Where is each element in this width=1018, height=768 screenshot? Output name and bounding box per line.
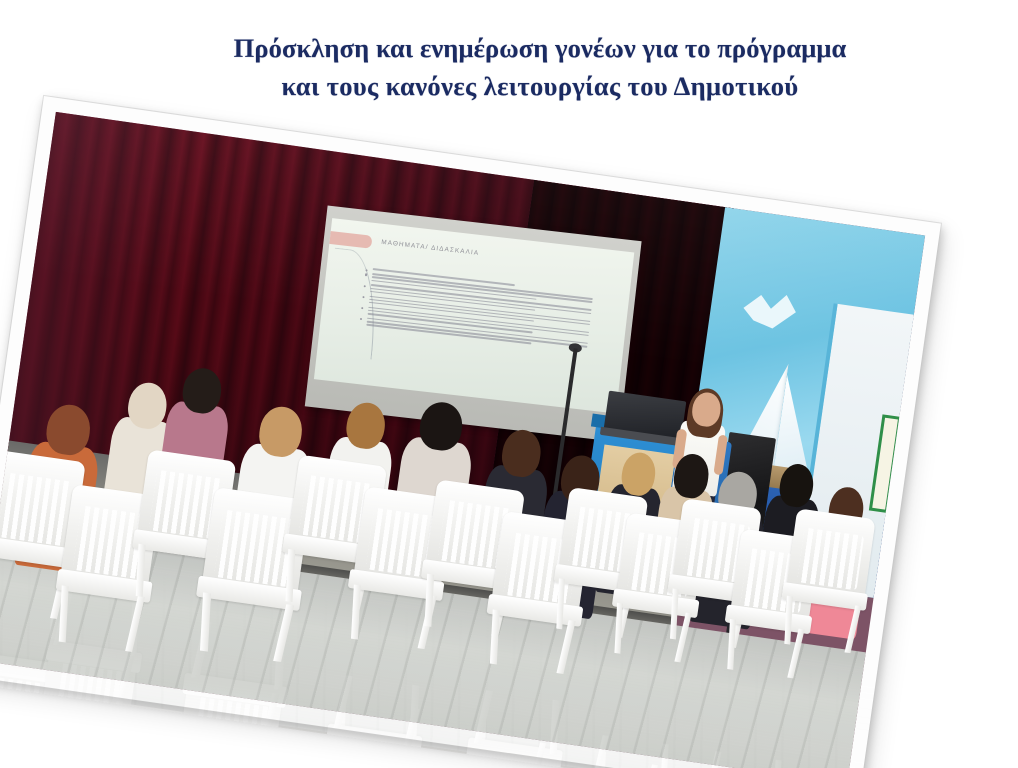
chair-back: [100, 715, 199, 768]
page-title: Πρόσκληση και ενημέρωση γονέων για το πρ…: [160, 30, 920, 105]
projected-slide-bullets: [360, 268, 603, 355]
photo-scene: ΜΑΘΗΜΑΤΑ/ ΔΙΔΑΣΚΑΛΙΑ: [0, 112, 925, 768]
presentation-slide: Πρόσκληση και ενημέρωση γονέων για το πρ…: [0, 0, 1018, 768]
title-line-2: και τους κανόνες λειτουργίας του Δημοτικ…: [160, 68, 920, 106]
projection-screen-surface: ΜΑΘΗΜΑΤΑ/ ΔΙΔΑΣΚΑΛΙΑ: [314, 218, 635, 413]
chair-legl: [728, 619, 737, 670]
dove-mural-icon: [741, 284, 799, 335]
reflection-curtain: [0, 759, 642, 768]
chair-legl: [615, 603, 624, 654]
chair-back: [318, 737, 418, 768]
chair-back: [245, 752, 344, 768]
chair-legl: [556, 578, 565, 629]
chair-legr: [845, 605, 862, 653]
title-line-1: Πρόσκληση και ενημέρωση γονέων για το πρ…: [160, 30, 920, 68]
chair-legl: [200, 592, 211, 651]
chair-legl: [351, 584, 361, 639]
chair-seat: [253, 739, 350, 768]
chair-seat: [393, 753, 490, 768]
photo-frame: ΜΑΘΗΜΑΤΑ/ ΔΙΔΑΣΚΑΛΙΑ: [0, 96, 941, 768]
chair-legl: [424, 574, 434, 627]
photo-container: ΜΑΘΗΜΑΤΑ/ ΔΙΔΑΣΚΑΛΙΑ: [0, 96, 941, 768]
chair-legl: [58, 585, 68, 642]
chair-legl: [670, 589, 679, 640]
chair-legl: [136, 544, 146, 597]
projected-slide-heading: ΜΑΘΗΜΑΤΑ/ ΔΙΔΑΣΚΑΛΙΑ: [381, 238, 588, 268]
chair-legl: [286, 549, 296, 602]
chair-legl: [490, 609, 500, 664]
chair-legl: [784, 595, 793, 644]
